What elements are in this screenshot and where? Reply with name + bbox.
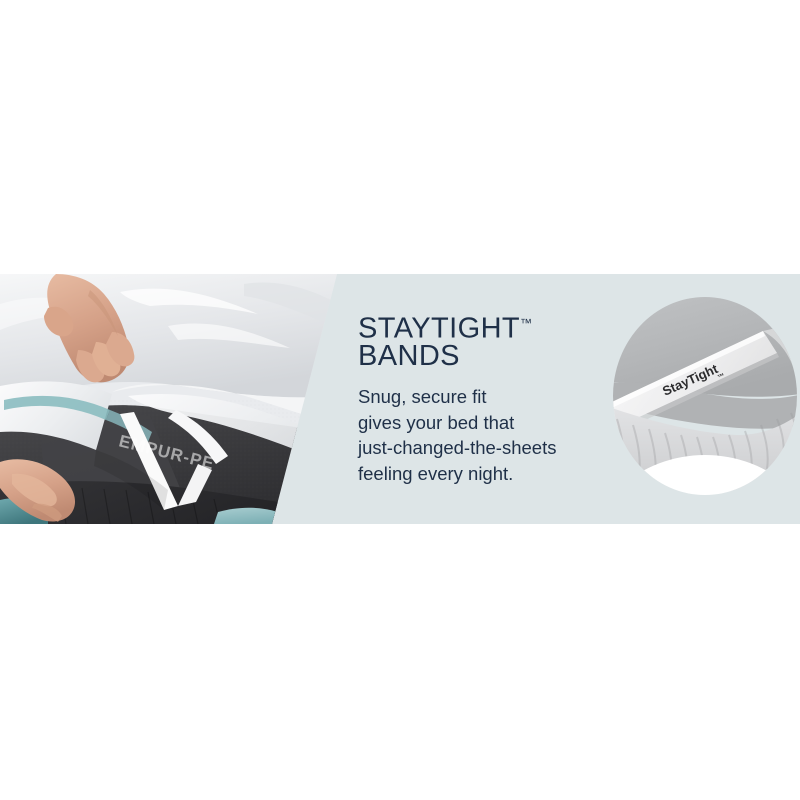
body-copy-line-3: just-changed-the-sheets <box>358 435 556 461</box>
trademark-symbol: ™ <box>520 316 532 330</box>
inset-clipped-content: StayTight ™ <box>613 297 797 495</box>
body-copy-line-1: Snug, secure fit <box>358 384 556 410</box>
headline-line-2: BANDS <box>358 340 460 373</box>
text-block: STAYTIGHT™ BANDS Snug, secure fit gives … <box>358 274 608 524</box>
inset-photo-staytight-band-closeup: StayTight ™ <box>613 297 797 495</box>
body-copy: Snug, secure fit gives your bed that jus… <box>358 384 556 486</box>
body-copy-line-4: feeling every night. <box>358 461 556 487</box>
product-photo-mattress-protector: EMPUR-PE <box>0 274 345 524</box>
photo-illustration: EMPUR-PE <box>0 274 345 524</box>
body-copy-line-2: gives your bed that <box>358 410 556 436</box>
inset-illustration: StayTight ™ <box>613 297 797 495</box>
